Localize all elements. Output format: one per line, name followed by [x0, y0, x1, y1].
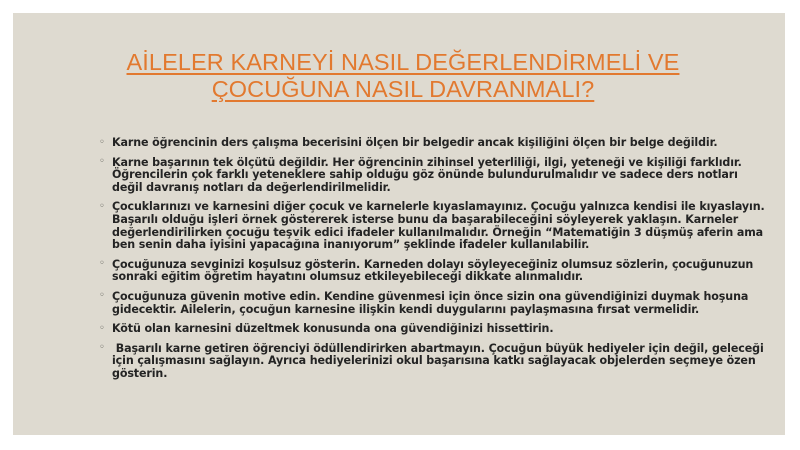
list-item: Çocuklarınızı ve karnesini diğer çocuk v… [99, 201, 767, 251]
bullet-list: Karne öğrencinin ders çalışma becerisini… [99, 137, 767, 388]
page-title-line-1: AİLELER KARNEYİ NASIL DEĞERLENDİRMELİ VE [83, 49, 723, 76]
page-title-line-2: ÇOCUĞUNA NASIL DAVRANMALI? [83, 76, 723, 103]
list-item: Karne başarının tek ölçütü değildir. Her… [99, 157, 767, 195]
list-item: Çocuğunuza güvenin motive edin. Kendine … [99, 291, 767, 316]
list-item: Karne öğrencinin ders çalışma becerisini… [99, 137, 767, 150]
page-title: AİLELER KARNEYİ NASIL DEĞERLENDİRMELİ VE… [83, 49, 723, 103]
list-item: Çocuğunuza sevginizi koşulsuz gösterin. … [99, 259, 767, 284]
list-item: Kötü olan karnesini düzeltmek konusunda … [99, 323, 767, 336]
slide-canvas: AİLELER KARNEYİ NASIL DEĞERLENDİRMELİ VE… [13, 13, 785, 435]
list-item: Başarılı karne getiren öğrenciyi ödüllen… [99, 343, 767, 381]
